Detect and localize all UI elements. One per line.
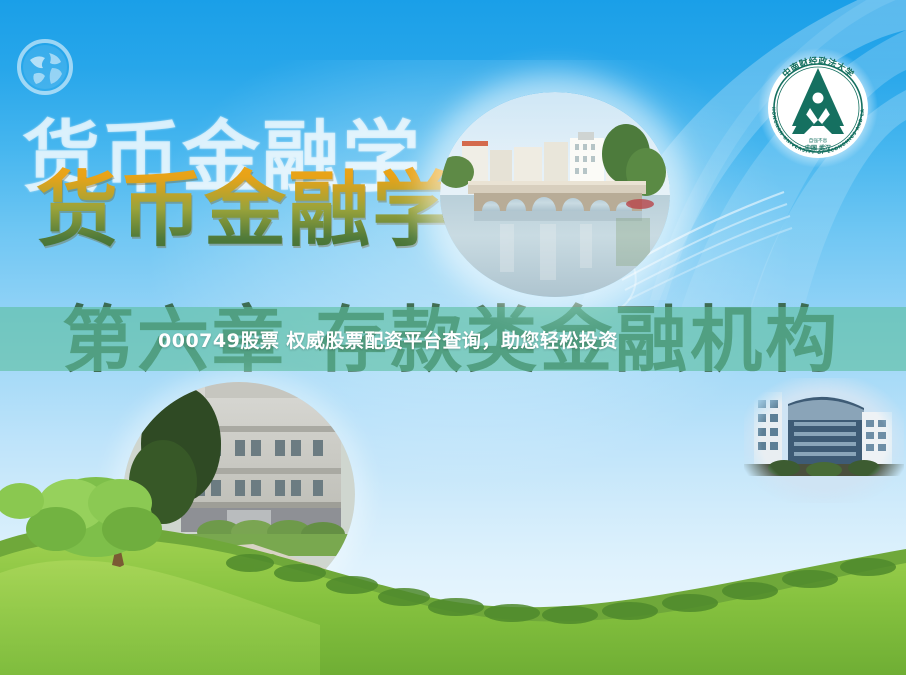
emblem-motto-cn: 自强不息 xyxy=(809,137,828,144)
seo-overlay-banner: 000749股票 权威股票配资平台查询，助您轻松投资 xyxy=(0,307,906,371)
overlay-headline-text: 000749股票 权威股票配资平台查询，助您轻松投资 xyxy=(158,326,618,353)
green-hills-foreground xyxy=(0,445,906,675)
course-title-text: 货币金融学 xyxy=(36,143,456,262)
bridge-photo xyxy=(440,92,670,297)
globe-icon xyxy=(16,38,74,96)
university-emblem: 中南财经政法大学 自强不息 中国 武汉 ZHONGNAN UNIVERSITY … xyxy=(756,42,880,172)
course-title-watermark: 货币金融学 货币金融学 xyxy=(0,95,430,275)
slide-banner-image: 货币金融学 货币金融学 第六章 存款类金融机构 xyxy=(0,0,906,675)
